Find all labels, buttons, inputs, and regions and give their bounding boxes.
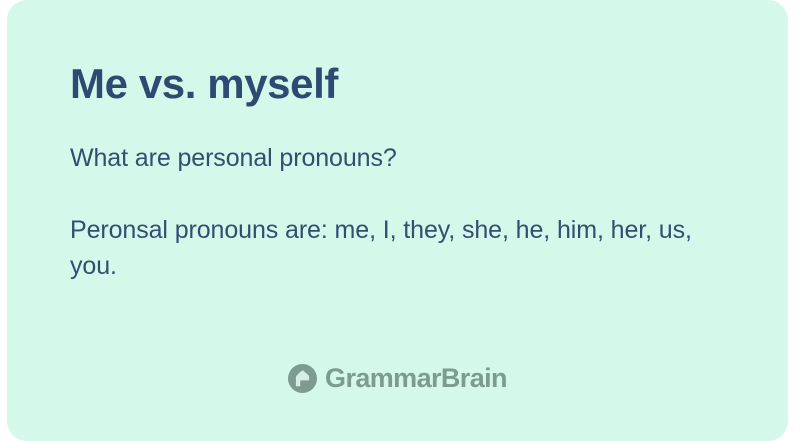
body-paragraph-question: What are personal pronouns? <box>70 140 730 176</box>
page-title: Me vs. myself <box>70 62 748 106</box>
body-paragraph-answer: Peronsal pronouns are: me, I, they, she,… <box>70 212 730 284</box>
card-content: Me vs. myself What are personal pronouns… <box>70 62 748 284</box>
brand-name: GrammarBrain <box>325 365 507 392</box>
grammarbrain-logo-icon <box>288 364 317 393</box>
content-card: Me vs. myself What are personal pronouns… <box>7 0 788 441</box>
brand-logo: GrammarBrain <box>7 364 788 393</box>
